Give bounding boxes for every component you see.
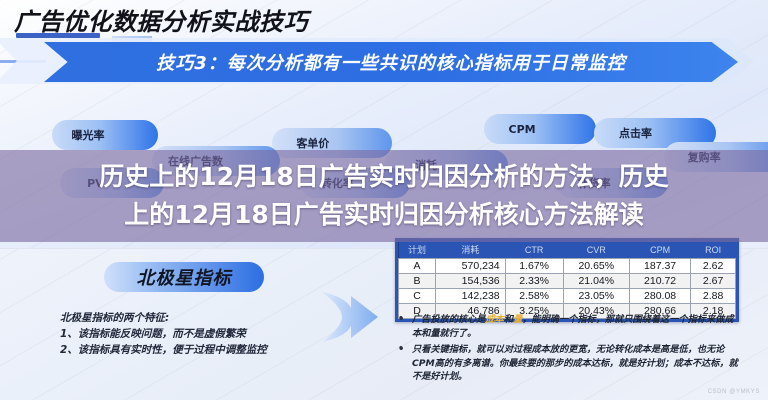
watermark-label: CSDN @YMKYS xyxy=(708,389,760,395)
north-star-line-1: 北极星指标的两个特征: xyxy=(60,310,360,326)
table-row: A 570,234 1.67% 20.65% 187.37 2.62 xyxy=(399,259,736,274)
bullet-1-highlight-volume: 量 xyxy=(513,314,522,325)
table-row: C 142,238 2.58% 23.05% 280.08 2.88 xyxy=(399,289,736,304)
slide-image-canvas: 广告优化数据分析实战技巧 技巧3：每次分析都有一些共识的核心指标用于日常监控 曝… xyxy=(0,0,768,400)
bullet-1-highlight-cost: 成本 xyxy=(486,314,504,325)
metric-pill-label: 客单价 xyxy=(296,135,329,151)
metrics-table: 计划 消耗 CTR CVR CPM ROI A 570,234 1.67% 20… xyxy=(395,238,739,322)
overlay-title-line-1: 历史上的12月18日广告实时归因分析的方法，历史 xyxy=(99,158,669,196)
bullet-dot-icon: • xyxy=(398,343,404,357)
cell-cvr: 20.65% xyxy=(563,259,629,274)
cell-ctr: 1.67% xyxy=(505,259,563,274)
col-cvr: CVR xyxy=(563,241,629,259)
cell-cvr: 23.05% xyxy=(563,289,629,304)
north-star-description: 北极星指标的两个特征: 1、该指标能反映问题，而不是虚假繁荣 2、该指标具有实时… xyxy=(60,310,360,358)
cell-roi: 2.67 xyxy=(691,274,736,289)
north-star-line-2: 1、该指标能反映问题，而不是虚假繁荣 xyxy=(60,326,360,342)
cell-ctr: 2.58% xyxy=(505,289,563,304)
cell-cvr: 21.04% xyxy=(563,274,629,289)
cell-roi: 2.88 xyxy=(691,289,736,304)
north-star-pill: 北极星指标 xyxy=(104,262,264,292)
col-ctr: CTR xyxy=(505,241,563,259)
bullet-1-prefix: 广告投放的核心是 xyxy=(412,314,486,325)
cell-spend: 570,234 xyxy=(436,259,506,274)
banner-label: 技巧3：每次分析都有一些共识的核心指标用于日常监控 xyxy=(156,49,626,75)
bullet-1-mid: 和 xyxy=(504,314,513,325)
banner-chevron: 技巧3：每次分析都有一些共识的核心指标用于日常监控 xyxy=(44,42,738,82)
metric-pill-label: 曝光率 xyxy=(72,127,105,143)
metric-pill-cpm: CPM xyxy=(484,114,596,144)
page-title: 广告优化数据分析实战技巧 xyxy=(14,2,308,37)
cell-cpm: 187.37 xyxy=(629,259,690,274)
cell-spend: 142,238 xyxy=(436,289,506,304)
cell-plan: C xyxy=(399,289,436,304)
cell-cpm: 210.72 xyxy=(629,274,690,289)
cell-plan: A xyxy=(399,259,436,274)
col-roi: ROI xyxy=(691,241,736,259)
cell-plan: B xyxy=(399,274,436,289)
north-star-pill-label: 北极星指标 xyxy=(137,264,232,290)
insight-bullets: • 广告投放的核心是成本和量，能明确一个指标，那就只围绕着这一个指标来做成本和量… xyxy=(396,313,742,387)
table-row: B 154,536 2.33% 21.04% 210.72 2.67 xyxy=(399,274,736,289)
overlay-title-band: 历史上的12月18日广告实时归因分析的方法，历史 上的12月18日广告实时归因分… xyxy=(0,150,768,242)
metric-pill-label: CPM xyxy=(509,123,536,136)
cell-spend: 154,536 xyxy=(436,274,506,289)
tip-banner: 技巧3：每次分析都有一些共识的核心指标用于日常监控 xyxy=(0,36,768,86)
col-plan: 计划 xyxy=(399,241,436,259)
bullet-2-text: 只看关键指标，就可以对过程成本放的更宽，无论转化成本是高是低，也无论CPM高的有… xyxy=(412,344,738,382)
cell-ctr: 2.33% xyxy=(505,274,563,289)
bullet-dot-icon: • xyxy=(398,313,404,327)
right-arrow-icon xyxy=(318,286,382,348)
metric-pill-label: 点击率 xyxy=(619,125,652,141)
north-star-line-3: 2、该指标具有实时性，便于过程中调整监控 xyxy=(60,342,360,358)
cell-cpm: 280.08 xyxy=(629,289,690,304)
overlay-title-line-2: 上的12月18日广告实时归因分析核心方法解读 xyxy=(124,196,644,234)
bullet-item-1: • 广告投放的核心是成本和量，能明确一个指标，那就只围绕着这一个指标来做成本和量… xyxy=(396,313,742,340)
col-spend: 消耗 xyxy=(436,241,506,259)
metric-pill-exposure-rate: 曝光率 xyxy=(52,120,158,150)
col-cpm: CPM xyxy=(629,241,690,259)
table-header-row: 计划 消耗 CTR CVR CPM ROI xyxy=(399,241,736,259)
cell-roi: 2.62 xyxy=(691,259,736,274)
bullet-item-2: • 只看关键指标，就可以对过程成本放的更宽，无论转化成本是高是低，也无论CPM高… xyxy=(396,343,742,384)
